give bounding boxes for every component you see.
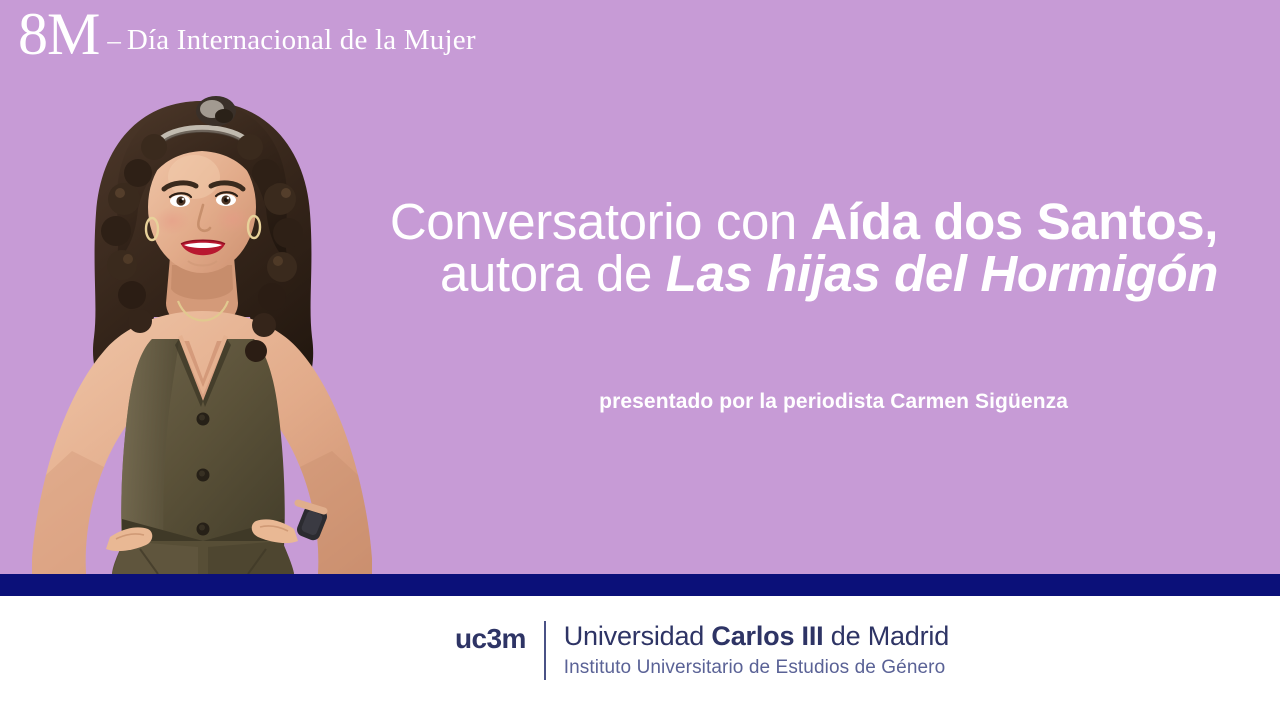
logo-text-block: Universidad Carlos III de Madrid Institu… — [546, 618, 949, 682]
title-line-2: autora de Las hijas del Hormigón — [0, 248, 1218, 300]
title-line-1-bold: Aída dos Santos, — [811, 193, 1218, 250]
logo-8m: 8M — [18, 4, 99, 64]
purple-stage: 8M – Día Internacional de la Mujer — [0, 0, 1280, 574]
event-subtitle: presentado por la periodista Carmen Sigü… — [0, 390, 1068, 414]
event-title: Conversatorio con Aída dos Santos, autor… — [0, 196, 1218, 300]
title-line-2-book-title: Las hijas del Hormigón — [666, 245, 1218, 302]
speaker-photo — [12, 89, 392, 574]
institute-name: Instituto Universitario de Estudios de G… — [564, 654, 949, 682]
navy-separator-band — [0, 574, 1280, 596]
uc3m-logo: uc3m Universidad Carlos III de Madrid In… — [455, 618, 949, 682]
poster-canvas: 8M – Día Internacional de la Mujer — [0, 0, 1280, 720]
university-name-light-2: de Madrid — [823, 621, 949, 651]
university-name-bold: Carlos III — [711, 621, 823, 651]
uc3m-wordmark: uc3m — [455, 618, 544, 682]
footer: uc3m Universidad Carlos III de Madrid In… — [0, 596, 1280, 720]
header-8m-banner: 8M – Día Internacional de la Mujer — [18, 4, 476, 64]
title-line-1-light: Conversatorio con — [390, 193, 811, 250]
university-name: Universidad Carlos III de Madrid — [564, 618, 949, 654]
header-tagline: Día Internacional de la Mujer — [127, 24, 476, 57]
title-line-2-light: autora de — [440, 245, 666, 302]
header-dash: – — [107, 25, 121, 56]
title-line-1: Conversatorio con Aída dos Santos, — [0, 196, 1218, 248]
university-name-light-1: Universidad — [564, 621, 712, 651]
